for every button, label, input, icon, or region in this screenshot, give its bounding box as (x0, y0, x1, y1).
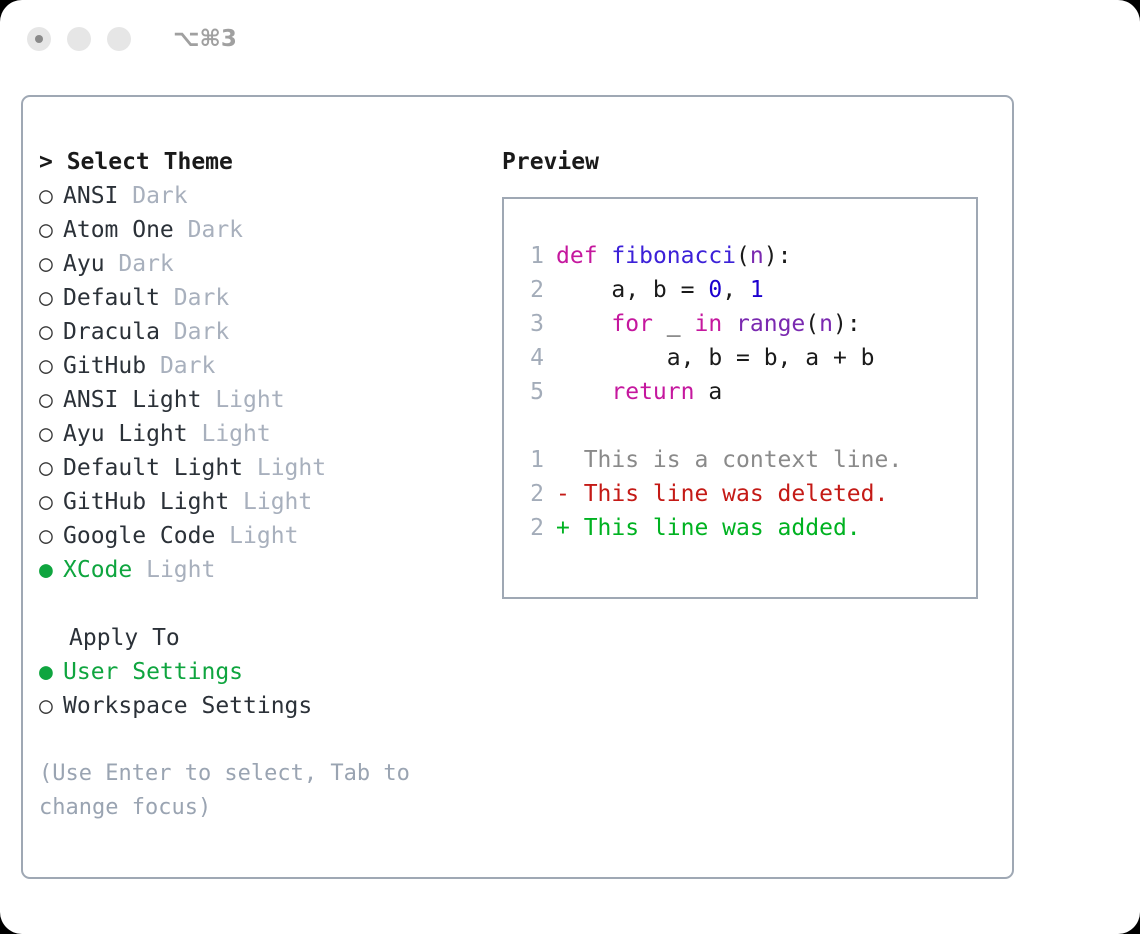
code-sample: 1def fibonacci(n):2 a, b = 0, 13 for _ i… (518, 239, 976, 409)
window-dot-inner (35, 35, 43, 43)
select-theme-header: > Select Theme (39, 145, 479, 179)
radio-unselected-icon[interactable]: ○ (39, 315, 63, 349)
code-token: - This line was deleted. (556, 481, 888, 507)
code-token: fibonacci (611, 243, 736, 269)
theme-list-item[interactable]: ○Ayu Light Light (39, 417, 479, 451)
theme-list[interactable]: ○ANSI Dark○Atom One Dark○Ayu Dark○Defaul… (39, 179, 479, 587)
code-line: 2 a, b = 0, 1 (518, 273, 976, 307)
preview-header: Preview (502, 145, 1002, 179)
app-window: ⌥⌘3 > Select Theme ○ANSI Dark○Atom One D… (0, 0, 1140, 934)
theme-name: Ayu (63, 251, 105, 277)
theme-list-item[interactable]: ○GitHub Light Light (39, 485, 479, 519)
radio-unselected-icon[interactable]: ○ (39, 485, 63, 519)
code-token: a, b = (556, 277, 708, 303)
theme-name: Default (63, 285, 160, 311)
code-token: ): (764, 243, 792, 269)
theme-name: Dracula (63, 319, 160, 345)
keyboard-shortcut-label: ⌥⌘3 (173, 26, 237, 52)
apply-to-item[interactable]: ○Workspace Settings (39, 689, 479, 723)
code-token (556, 311, 611, 337)
line-number: 2 (518, 477, 544, 511)
code-token: for (611, 311, 653, 337)
code-token: a, b = b, a + b (556, 345, 875, 371)
radio-unselected-icon[interactable]: ○ (39, 417, 63, 451)
theme-list-item[interactable]: ○GitHub Dark (39, 349, 479, 383)
code-token: ( (736, 243, 750, 269)
code-token: 1 (750, 277, 764, 303)
theme-variant-label: Light (188, 421, 271, 447)
code-token (598, 243, 612, 269)
theme-name: Ayu Light (63, 421, 188, 447)
theme-name: Default Light (63, 455, 243, 481)
radio-unselected-icon[interactable]: ○ (39, 247, 63, 281)
radio-unselected-icon[interactable]: ○ (39, 179, 63, 213)
keyboard-hint-text: (Use Enter to select, Tab to change focu… (39, 757, 439, 825)
theme-variant-label: Light (243, 455, 326, 481)
list-spacer (39, 587, 479, 621)
theme-list-item[interactable]: ○ANSI Dark (39, 179, 479, 213)
apply-to-label: User Settings (63, 659, 243, 685)
diff-sample: 1 This is a context line.2- This line wa… (518, 443, 976, 545)
window-dot-active[interactable] (27, 27, 51, 51)
theme-list-item[interactable]: ○Default Light Light (39, 451, 479, 485)
apply-to-list[interactable]: ●User Settings○Workspace Settings (39, 655, 479, 723)
code-token: , (722, 277, 750, 303)
radio-unselected-icon[interactable]: ○ (39, 349, 63, 383)
theme-name: ANSI Light (63, 387, 201, 413)
radio-unselected-icon[interactable]: ○ (39, 451, 63, 485)
theme-variant-label: Dark (146, 353, 215, 379)
apply-to-header: Apply To (39, 621, 479, 655)
line-number: 1 (518, 443, 544, 477)
window-dot-third[interactable] (107, 27, 131, 51)
code-token: a (694, 379, 722, 405)
radio-unselected-icon[interactable]: ○ (39, 519, 63, 553)
code-token (556, 379, 611, 405)
radio-unselected-icon[interactable]: ○ (39, 383, 63, 417)
code-token: This is a context line. (556, 447, 902, 473)
code-line: 5 return a (518, 375, 976, 409)
theme-list-item[interactable]: ○ANSI Light Light (39, 383, 479, 417)
code-line: 3 for _ in range(n): (518, 307, 976, 341)
apply-to-item[interactable]: ●User Settings (39, 655, 479, 689)
theme-variant-label: Light (201, 387, 284, 413)
theme-variant-label: Light (215, 523, 298, 549)
theme-list-item[interactable]: ○Google Code Light (39, 519, 479, 553)
theme-name: GitHub (63, 353, 146, 379)
window-dot-second[interactable] (67, 27, 91, 51)
diff-line: 1 This is a context line. (518, 443, 976, 477)
theme-selector-column: > Select Theme ○ANSI Dark○Atom One Dark○… (39, 145, 479, 825)
code-token: n (750, 243, 764, 269)
radio-selected-icon[interactable]: ● (39, 655, 63, 689)
line-number: 2 (518, 511, 544, 545)
code-line: 1def fibonacci(n): (518, 239, 976, 273)
title-bar: ⌥⌘3 (0, 0, 1140, 78)
theme-list-item[interactable]: ●XCode Light (39, 553, 479, 587)
line-number: 1 (518, 239, 544, 273)
code-token: + This line was added. (556, 515, 861, 541)
theme-name: GitHub Light (63, 489, 229, 515)
line-number: 3 (518, 307, 544, 341)
theme-name: ANSI (63, 183, 118, 209)
code-token: ( (805, 311, 819, 337)
diff-line: 2+ This line was added. (518, 511, 976, 545)
code-token (722, 311, 736, 337)
theme-name: Google Code (63, 523, 215, 549)
code-token: ): (833, 311, 861, 337)
radio-unselected-icon[interactable]: ○ (39, 213, 63, 247)
code-diff-separator (518, 409, 976, 443)
code-token: in (694, 311, 722, 337)
diff-line: 2- This line was deleted. (518, 477, 976, 511)
theme-list-item[interactable]: ○Ayu Dark (39, 247, 479, 281)
radio-selected-icon[interactable]: ● (39, 553, 63, 587)
theme-list-item[interactable]: ○Dracula Dark (39, 315, 479, 349)
theme-list-item[interactable]: ○Atom One Dark (39, 213, 479, 247)
code-token: n (819, 311, 833, 337)
preview-box: 1def fibonacci(n):2 a, b = 0, 13 for _ i… (502, 197, 978, 599)
line-number: 2 (518, 273, 544, 307)
theme-variant-label: Dark (160, 285, 229, 311)
line-number: 4 (518, 341, 544, 375)
preview-column: Preview 1def fibonacci(n):2 a, b = 0, 13… (502, 145, 1002, 599)
theme-name: XCode (63, 557, 132, 583)
theme-name: Atom One (63, 217, 174, 243)
apply-to-label: Workspace Settings (63, 693, 312, 719)
code-token: def (556, 243, 598, 269)
radio-unselected-icon[interactable]: ○ (39, 281, 63, 315)
theme-variant-label: Light (132, 557, 215, 583)
code-line: 4 a, b = b, a + b (518, 341, 976, 375)
radio-unselected-icon[interactable]: ○ (39, 689, 63, 723)
theme-variant-label: Dark (118, 183, 187, 209)
code-token: range (736, 311, 805, 337)
code-token: return (611, 379, 694, 405)
code-token: _ (653, 311, 695, 337)
theme-variant-label: Dark (174, 217, 243, 243)
theme-variant-label: Light (229, 489, 312, 515)
theme-variant-label: Dark (160, 319, 229, 345)
code-token: 0 (708, 277, 722, 303)
line-number: 5 (518, 375, 544, 409)
theme-variant-label: Dark (105, 251, 174, 277)
main-panel: > Select Theme ○ANSI Dark○Atom One Dark○… (21, 95, 1014, 879)
theme-list-item[interactable]: ○Default Dark (39, 281, 479, 315)
